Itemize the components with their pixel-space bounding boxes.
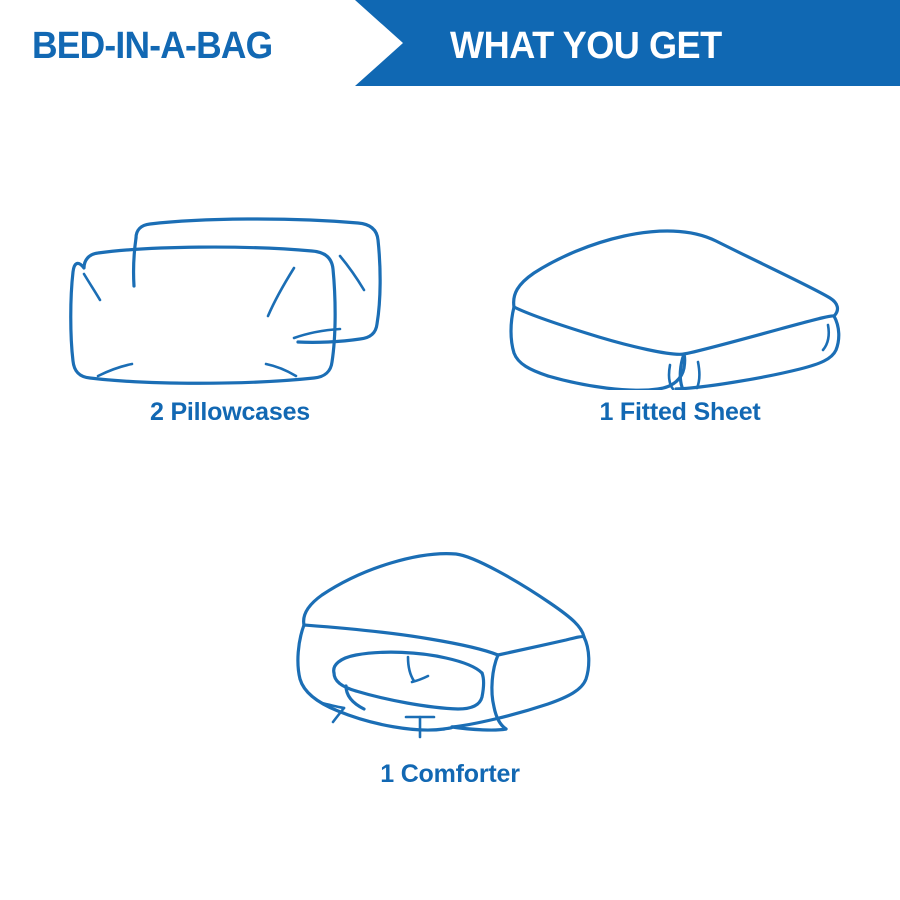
folded-comforter-icon (260, 545, 640, 755)
item-caption-pillowcases: 2 Pillowcases (40, 398, 420, 427)
item-fitted-sheet: 1 Fitted Sheet (490, 190, 870, 450)
bed-in-a-bag-infographic: BED-IN-A-BAG WHAT YOU GET 2 Pillowcases (0, 0, 900, 900)
two-pillows-icon (40, 190, 420, 390)
page-title-left: BED-IN-A-BAG (32, 22, 320, 70)
item-caption-comforter: 1 Comforter (260, 760, 640, 789)
item-caption-fitted-sheet: 1 Fitted Sheet (490, 398, 870, 427)
fitted-sheet-mattress-icon (490, 190, 870, 390)
header-banner: BED-IN-A-BAG WHAT YOU GET (0, 0, 900, 90)
page-title-right: WHAT YOU GET (450, 22, 722, 70)
item-pillowcases: 2 Pillowcases (40, 190, 420, 450)
item-comforter: 1 Comforter (260, 545, 640, 805)
